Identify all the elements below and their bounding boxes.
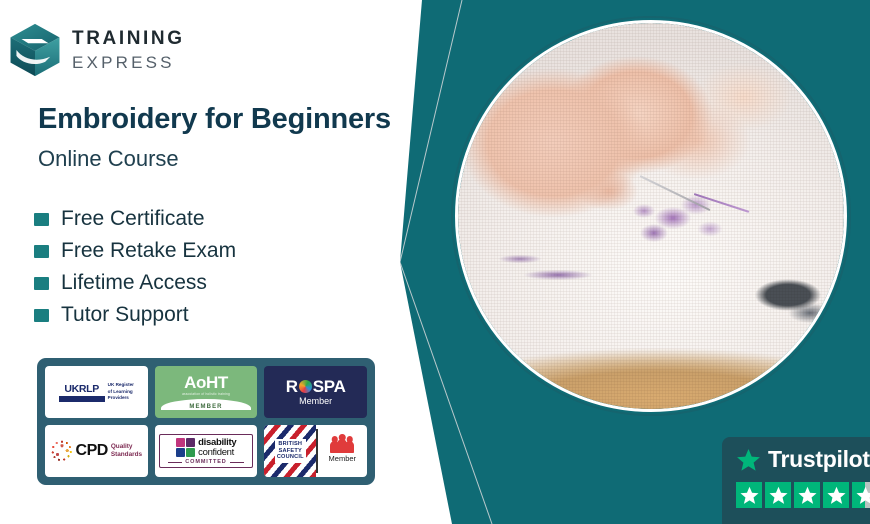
rospa-prefix: R	[286, 378, 298, 395]
bsc-member-label: Member	[329, 454, 357, 463]
badge-aoht: AoHT association of holistic training ME…	[155, 366, 258, 418]
dc-level: COMMITTED	[164, 459, 249, 465]
feature-list: Free Certificate Free Retake Exam Lifeti…	[34, 203, 236, 331]
star-filled-3	[794, 482, 820, 508]
ukrlp-desc-line3: Providers	[108, 395, 134, 402]
person-middle-icon	[337, 439, 347, 453]
trustpilot-star-icon	[736, 448, 761, 472]
square-bullet-icon	[34, 245, 49, 258]
rospa-member-label: Member	[299, 396, 332, 406]
accreditation-badges: UKRLP UK Register of Learning Providers …	[37, 358, 375, 485]
course-promo-banner: TRAINING EXPRESS Embroidery for Beginner…	[0, 0, 870, 524]
feature-label: Free Certificate	[61, 207, 205, 231]
disability-confident-row: disability confident	[176, 438, 237, 458]
course-title: Embroidery for Beginners	[38, 103, 391, 136]
dc-dash-left	[168, 462, 182, 463]
dc-word1: disability	[198, 438, 236, 448]
dc-symbol-4	[186, 448, 195, 457]
course-photo	[455, 20, 847, 412]
course-subtitle: Online Course	[38, 146, 179, 172]
bsc-line2: SAFETY	[277, 448, 304, 455]
list-item: Lifetime Access	[34, 267, 236, 299]
badge-british-safety-council: BRITISH SAFETY COUNCIL Member	[264, 425, 367, 477]
square-bullet-icon	[34, 309, 49, 322]
fabric-texture	[458, 23, 844, 409]
dc-symbol-1	[176, 438, 185, 447]
trustpilot-rating-stars	[736, 482, 870, 508]
feature-label: Free Retake Exam	[61, 239, 236, 263]
bsc-member-block: Member	[318, 425, 367, 477]
bsc-emblem: BRITISH SAFETY COUNCIL	[264, 425, 316, 477]
bsc-name: BRITISH SAFETY COUNCIL	[275, 439, 306, 464]
disability-confident-wordmark: disability confident	[198, 438, 236, 458]
list-item: Tutor Support	[34, 299, 236, 331]
ukrlp-bar	[59, 396, 105, 402]
ukrlp-name: UKRLP	[64, 383, 99, 395]
ukrlp-desc-line1: UK Register	[108, 382, 134, 389]
list-item: Free Retake Exam	[34, 235, 236, 267]
badge-disability-confident: disability confident COMMITTED	[155, 425, 258, 477]
bsc-line3: COUNCIL	[277, 454, 304, 461]
dc-level-label: COMMITTED	[185, 459, 226, 465]
brand-name-line2: EXPRESS	[72, 54, 185, 71]
cpd-tagline-line1: Quality	[111, 443, 142, 451]
disability-confident-symbols-icon	[176, 438, 196, 458]
dc-word2: confident	[198, 448, 236, 458]
badge-rospa: R SPA Member	[264, 366, 367, 418]
star-half-5	[852, 482, 870, 508]
brand-logo[interactable]: TRAINING EXPRESS	[8, 22, 185, 78]
rospa-wordmark: R SPA	[286, 378, 346, 395]
brand-wordmark: TRAINING EXPRESS	[72, 29, 185, 71]
dc-symbol-2	[186, 438, 195, 447]
aoht-name: AoHT	[184, 374, 228, 391]
square-bullet-icon	[34, 277, 49, 290]
trustpilot-name: Trustpilot	[768, 446, 870, 473]
aoht-member-label: MEMBER	[189, 404, 222, 410]
square-bullet-icon	[34, 213, 49, 226]
embroidery-photo-image	[458, 23, 844, 409]
badge-cpd: CPD Quality Standards	[45, 425, 148, 477]
rospa-suffix: SPA	[313, 378, 346, 395]
ukrlp-desc-line2: of Learning	[108, 389, 134, 396]
dc-symbol-3	[176, 448, 185, 457]
training-express-cube-icon	[8, 22, 62, 78]
rospa-globe-icon	[299, 380, 312, 393]
cpd-tagline: Quality Standards	[111, 443, 142, 459]
ukrlp-mark: UKRLP	[59, 383, 105, 402]
ukrlp-description: UK Register of Learning Providers	[108, 382, 134, 402]
badge-ukrlp: UKRLP UK Register of Learning Providers	[45, 366, 148, 418]
aoht-swoosh: MEMBER	[161, 399, 251, 410]
list-item: Free Certificate	[34, 203, 236, 235]
aoht-subtext: association of holistic training	[182, 392, 230, 396]
cpd-tagline-line2: Standards	[111, 451, 142, 459]
dc-dash-right	[230, 462, 244, 463]
cpd-name: CPD	[76, 442, 108, 460]
trustpilot-widget[interactable]: Trustpilot	[722, 437, 870, 524]
star-filled-2	[765, 482, 791, 508]
feature-label: Tutor Support	[61, 303, 189, 327]
trustpilot-header: Trustpilot	[736, 446, 870, 473]
people-group-icon	[331, 439, 353, 453]
bsc-line1: BRITISH	[277, 441, 304, 448]
brand-name-line1: TRAINING	[72, 29, 185, 48]
star-filled-4	[823, 482, 849, 508]
feature-label: Lifetime Access	[61, 271, 207, 295]
star-filled-1	[736, 482, 762, 508]
disability-confident-frame: disability confident COMMITTED	[159, 434, 254, 469]
cpd-dots-icon	[51, 440, 73, 462]
